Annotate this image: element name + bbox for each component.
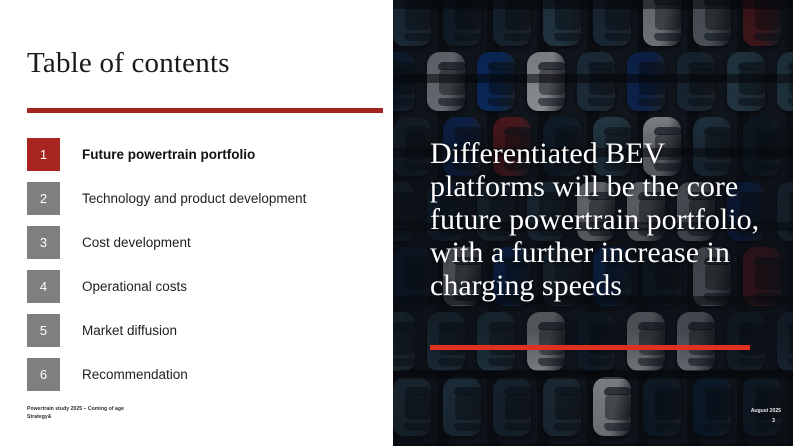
toc-item-1[interactable]: 1 Future powertrain portfolio xyxy=(27,138,377,174)
toc-number-badge: 5 xyxy=(27,314,60,347)
toc-item-2[interactable]: 2 Technology and product development xyxy=(27,182,377,218)
toc-item-label: Cost development xyxy=(82,226,191,259)
toc-item-label: Recommendation xyxy=(82,358,188,391)
table-of-contents-panel: Table of contents 1 Future powertrain po… xyxy=(0,0,393,446)
footer-brand-logo: Strategy& xyxy=(27,414,124,422)
slide: Table of contents 1 Future powertrain po… xyxy=(0,0,793,446)
toc-number-badge: 1 xyxy=(27,138,60,171)
slide-footer-date: August 2025 xyxy=(751,408,781,416)
toc-item-5[interactable]: 5 Market diffusion xyxy=(27,314,377,350)
hero-divider xyxy=(430,345,750,350)
page-title: Table of contents xyxy=(27,46,230,80)
footer-study-title: Powertrain study 2025 – Coming of age xyxy=(27,406,124,412)
hero-image-panel: Differentiated BEV platforms will be the… xyxy=(393,0,793,446)
toc-item-label: Operational costs xyxy=(82,270,187,303)
toc-item-label: Technology and product development xyxy=(82,182,306,215)
toc-list: 1 Future powertrain portfolio 2 Technolo… xyxy=(27,138,377,402)
toc-number-badge: 6 xyxy=(27,358,60,391)
slide-footer-left: Powertrain study 2025 – Coming of age St… xyxy=(27,406,124,421)
title-divider xyxy=(27,108,383,113)
toc-number-badge: 2 xyxy=(27,182,60,215)
toc-item-3[interactable]: 3 Cost development xyxy=(27,226,377,262)
toc-item-label: Future powertrain portfolio xyxy=(82,138,255,171)
toc-item-label: Market diffusion xyxy=(82,314,177,347)
page-number: 3 xyxy=(772,418,775,424)
hero-headline: Differentiated BEV platforms will be the… xyxy=(430,137,760,302)
toc-number-badge: 3 xyxy=(27,226,60,259)
toc-item-4[interactable]: 4 Operational costs xyxy=(27,270,377,306)
toc-number-badge: 4 xyxy=(27,270,60,303)
toc-item-6[interactable]: 6 Recommendation xyxy=(27,358,377,394)
